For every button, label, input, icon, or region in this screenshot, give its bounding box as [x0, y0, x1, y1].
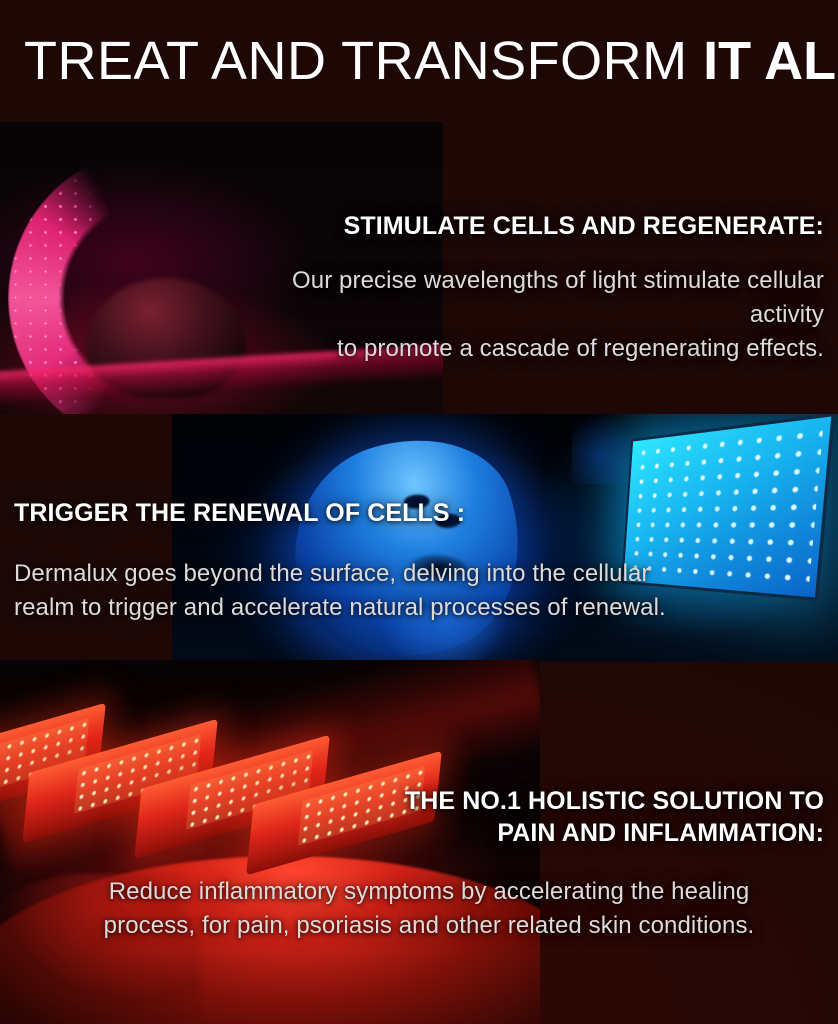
section-trigger-body: Dermalux goes beyond the surface, delvin…	[14, 557, 814, 625]
section-trigger: TRIGGER THE RENEWAL OF CELLS : Dermalux …	[14, 497, 814, 625]
section-holistic: THE NO.1 HOLISTIC SOLUTION TO PAIN AND I…	[34, 785, 824, 943]
section-stimulate: STIMULATE CELLS AND REGENERATE: Our prec…	[258, 210, 824, 366]
page-title-bold: IT ALL	[703, 31, 838, 91]
page-title: TREAT AND TRANSFORM IT ALL	[24, 34, 838, 88]
section-holistic-heading-line-2: PAIN AND INFLAMMATION:	[497, 819, 824, 847]
page-title-bar: TREAT AND TRANSFORM IT ALL	[0, 0, 838, 122]
section-stimulate-heading: STIMULATE CELLS AND REGENERATE:	[258, 210, 824, 242]
section-holistic-heading: THE NO.1 HOLISTIC SOLUTION TO PAIN AND I…	[34, 785, 824, 849]
section-trigger-body-line-2: realm to trigger and accelerate natural …	[14, 591, 814, 625]
section-stimulate-body: Our precise wavelengths of light stimula…	[258, 264, 824, 366]
section-stimulate-body-line-1: Our precise wavelengths of light stimula…	[258, 264, 824, 332]
poster-root: TREAT AND TRANSFORM IT ALL STIMULATE CEL…	[0, 0, 838, 1024]
page-title-light: TREAT AND TRANSFORM	[24, 31, 688, 91]
section-holistic-body-line-2: process, for pain, psoriasis and other r…	[34, 909, 824, 943]
section-holistic-body-line-1: Reduce inflammatory symptoms by accelera…	[34, 875, 824, 909]
section-trigger-heading: TRIGGER THE RENEWAL OF CELLS :	[14, 497, 814, 529]
section-holistic-heading-line-1: THE NO.1 HOLISTIC SOLUTION TO	[405, 787, 824, 815]
section-holistic-body: Reduce inflammatory symptoms by accelera…	[34, 875, 824, 943]
section-trigger-body-line-1: Dermalux goes beyond the surface, delvin…	[14, 557, 814, 591]
section-stimulate-body-line-2: to promote a cascade of regenerating eff…	[258, 332, 824, 366]
